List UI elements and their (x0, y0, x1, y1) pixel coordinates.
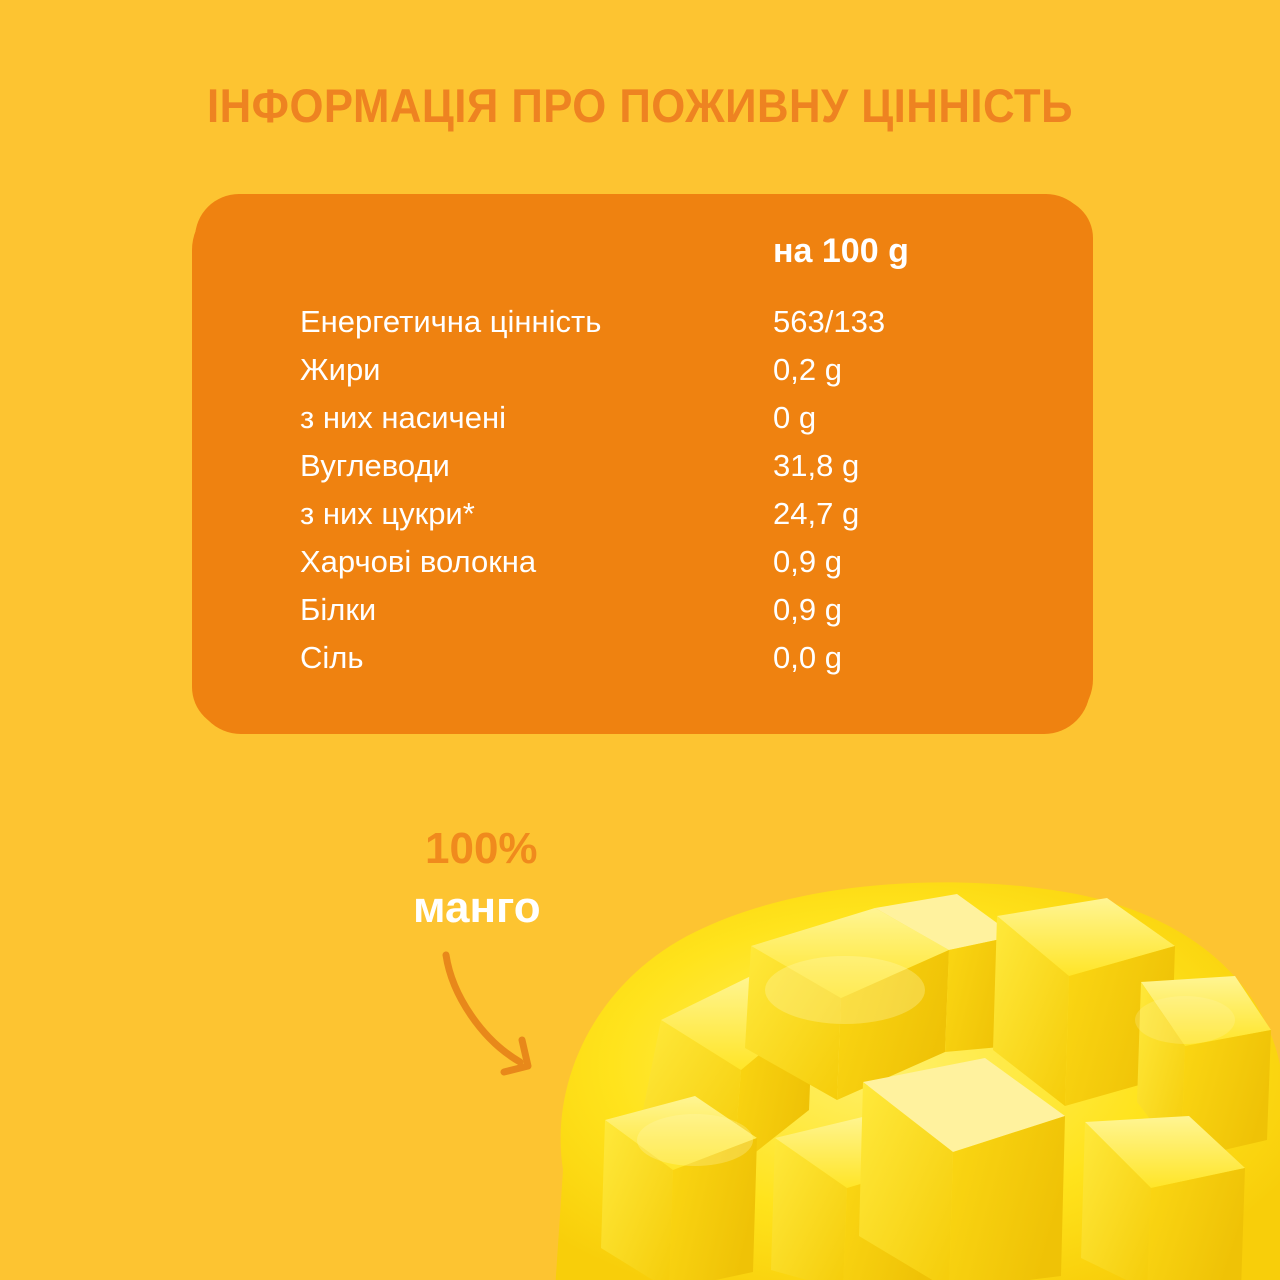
nutrient-value: 0,0 g (773, 634, 842, 682)
callout-product: манго (413, 883, 541, 933)
nutrition-panel: на 100 g Енергетична цінність 563/133 Жи… (195, 194, 1090, 734)
nutrient-label: з них цукри* (300, 490, 475, 538)
table-row: з них цукри* 24,7 g (195, 490, 1090, 538)
nutrition-column-header: на 100 g (773, 232, 909, 271)
nutrient-label: Харчові волокна (300, 538, 536, 586)
nutrition-rows: Енергетична цінність 563/133 Жири 0,2 g … (195, 298, 1090, 682)
mango-hedgehog-cut-photo (545, 870, 1280, 1280)
nutrient-value: 24,7 g (773, 490, 859, 538)
callout-percent: 100% (425, 824, 538, 874)
nutrient-label: Жири (300, 346, 381, 394)
nutrient-label: Енергетична цінність (300, 298, 601, 346)
nutrient-label: з них насичені (300, 394, 506, 442)
table-row: Жири 0,2 g (195, 346, 1090, 394)
table-row: Білки 0,9 g (195, 586, 1090, 634)
table-row: з них насичені 0 g (195, 394, 1090, 442)
nutrient-value: 0,2 g (773, 346, 842, 394)
table-row: Вуглеводи 31,8 g (195, 442, 1090, 490)
nutrient-label: Сіль (300, 634, 364, 682)
nutrient-value: 0,9 g (773, 586, 842, 634)
nutrient-label: Білки (300, 586, 376, 634)
table-row: Сіль 0,0 g (195, 634, 1090, 682)
table-row: Харчові волокна 0,9 g (195, 538, 1090, 586)
nutrient-label: Вуглеводи (300, 442, 450, 490)
nutrient-value: 0,9 g (773, 538, 842, 586)
nutrition-infographic-canvas: ІНФОРМАЦІЯ ПРО ПОЖИВНУ ЦІННІСТЬ на 100 g… (0, 0, 1280, 1280)
nutrient-value: 0 g (773, 394, 816, 442)
page-title: ІНФОРМАЦІЯ ПРО ПОЖИВНУ ЦІННІСТЬ (45, 78, 1235, 133)
nutrient-value: 31,8 g (773, 442, 859, 490)
nutrient-value: 563/133 (773, 298, 885, 346)
table-row: Енергетична цінність 563/133 (195, 298, 1090, 346)
